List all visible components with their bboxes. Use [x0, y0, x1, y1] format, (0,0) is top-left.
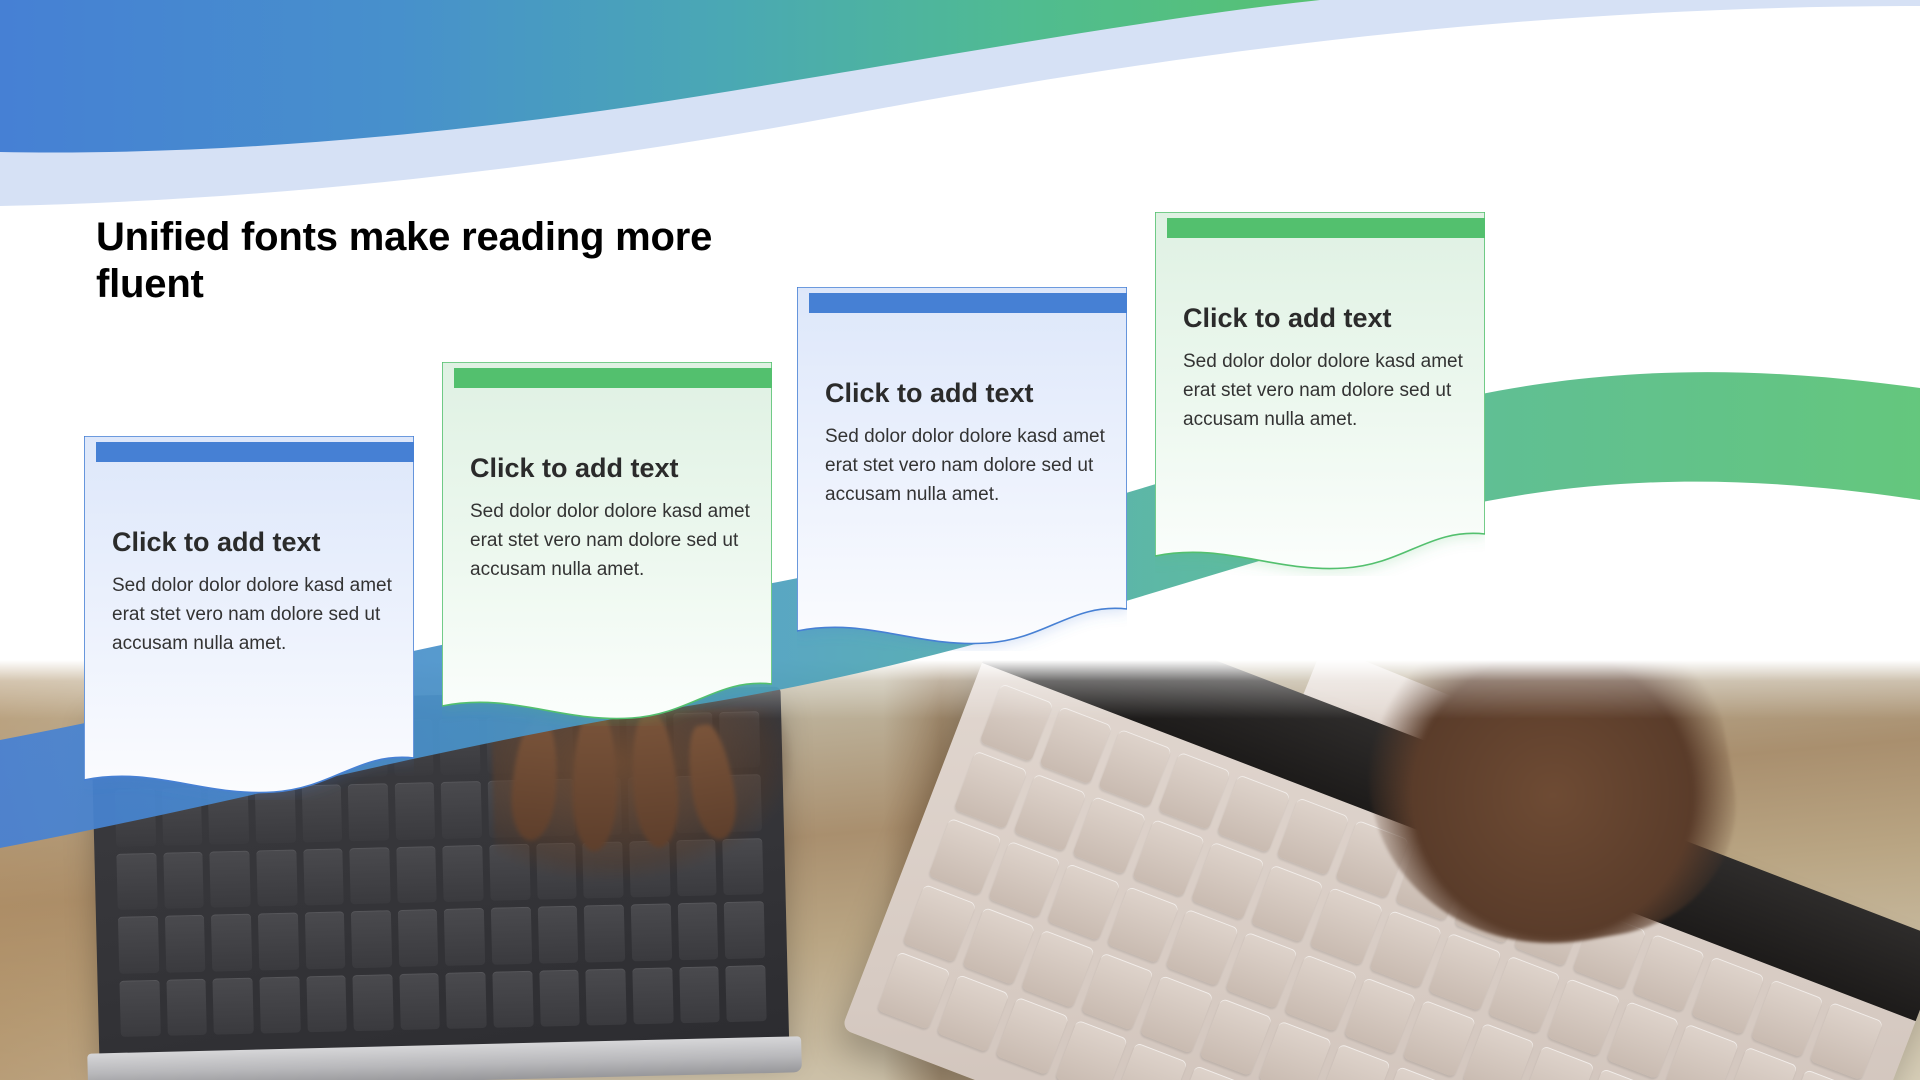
card-3-heading[interactable]: Click to add text	[825, 377, 1105, 409]
card-1-body[interactable]: Sed dolor dolor dolore kasd amet erat st…	[112, 572, 392, 659]
text-card-1[interactable]: Click to add text Sed dolor dolor dolore…	[84, 436, 414, 800]
card-3-body[interactable]: Sed dolor dolor dolore kasd amet erat st…	[825, 423, 1105, 510]
card-2-heading[interactable]: Click to add text	[470, 452, 750, 484]
card-4-heading[interactable]: Click to add text	[1183, 302, 1463, 334]
card-2-body[interactable]: Sed dolor dolor dolore kasd amet erat st…	[470, 498, 750, 585]
card-3-accent-bar	[809, 293, 1127, 313]
card-2-content: Click to add text Sed dolor dolor dolore…	[470, 452, 750, 585]
card-2-accent-bar	[454, 368, 772, 388]
card-4-body[interactable]: Sed dolor dolor dolore kasd amet erat st…	[1183, 348, 1463, 435]
slide-canvas: Unified fonts make reading more fluent C…	[0, 0, 1920, 1080]
page-title: Unified fonts make reading more fluent	[96, 214, 776, 308]
text-card-2[interactable]: Click to add text Sed dolor dolor dolore…	[442, 362, 772, 726]
card-3-content: Click to add text Sed dolor dolor dolore…	[825, 377, 1105, 510]
text-card-4[interactable]: Click to add text Sed dolor dolor dolore…	[1155, 212, 1485, 576]
card-4-content: Click to add text Sed dolor dolor dolore…	[1183, 302, 1463, 435]
card-1-heading[interactable]: Click to add text	[112, 526, 392, 558]
card-1-accent-bar	[96, 442, 414, 462]
card-4-accent-bar	[1167, 218, 1485, 238]
text-card-3[interactable]: Click to add text Sed dolor dolor dolore…	[797, 287, 1127, 651]
card-1-content: Click to add text Sed dolor dolor dolore…	[112, 526, 392, 659]
